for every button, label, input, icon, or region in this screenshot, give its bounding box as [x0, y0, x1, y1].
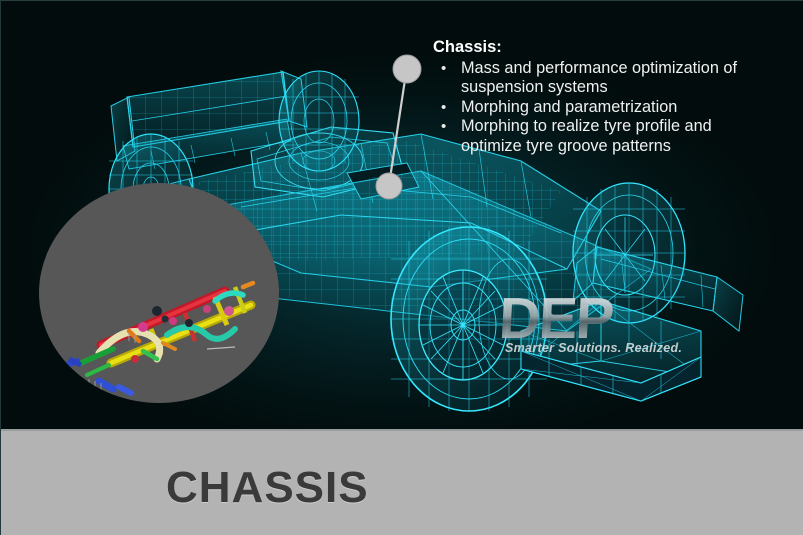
list-item-label: Morphing to realize tyre profile and opt… — [461, 117, 712, 155]
list-item: • Morphing and parametrization — [433, 98, 753, 118]
list-item: • Morphing to realize tyre profile and o… — [433, 117, 753, 156]
callout-bullet-list: • Mass and performance optimization of s… — [433, 59, 753, 157]
wheel-rear-left — [391, 226, 547, 412]
bullet-glyph: • — [441, 117, 446, 137]
bullet-glyph: • — [441, 59, 446, 79]
chassis-detail-inset — [39, 183, 279, 403]
list-item-label: Mass and performance optimization of sus… — [461, 59, 737, 97]
footer-band — [1, 429, 803, 535]
callout-title: Chassis: — [433, 37, 753, 58]
list-item: • Mass and performance optimization of s… — [433, 59, 753, 98]
page-title: CHASSIS — [166, 463, 369, 513]
wheel-front-right — [279, 71, 359, 171]
slide-root: DEP Smarter Solutions. Realized. Chassis… — [0, 0, 803, 535]
chassis-callout-text: Chassis: • Mass and performance optimiza… — [433, 37, 753, 156]
bullet-glyph: • — [441, 98, 446, 118]
list-item-label: Morphing and parametrization — [461, 98, 677, 116]
